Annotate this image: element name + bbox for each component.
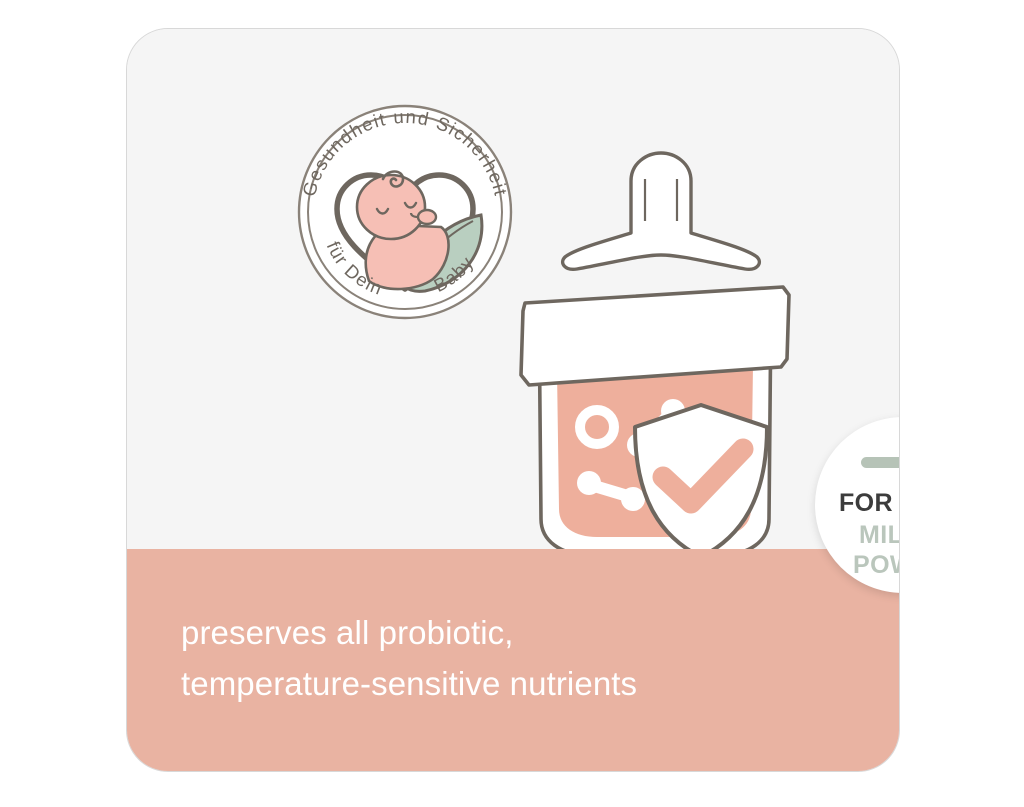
screenshot-root: Gesundheit und Sicherheit für Dein Baby	[0, 0, 1024, 807]
caption-panel: preserves all probiotic, temperature-sen…	[127, 549, 899, 772]
milk-powder-line-3: POWDER	[853, 551, 900, 580]
product-feature-card: Gesundheit und Sicherheit für Dein Baby	[126, 28, 900, 772]
milk-powder-line-1: FOR	[839, 489, 893, 518]
milk-powder-line-2: MILK	[859, 521, 900, 550]
scoop-handle	[861, 457, 900, 468]
bottle-teat	[563, 153, 760, 269]
pacifier-icon	[418, 210, 436, 224]
caption-text: preserves all probiotic, temperature-sen…	[181, 607, 841, 709]
bottle-collar	[521, 287, 789, 385]
trust-badge: Gesundheit und Sicherheit für Dein Baby	[291, 103, 519, 321]
baby-bottle-illustration	[505, 137, 805, 569]
